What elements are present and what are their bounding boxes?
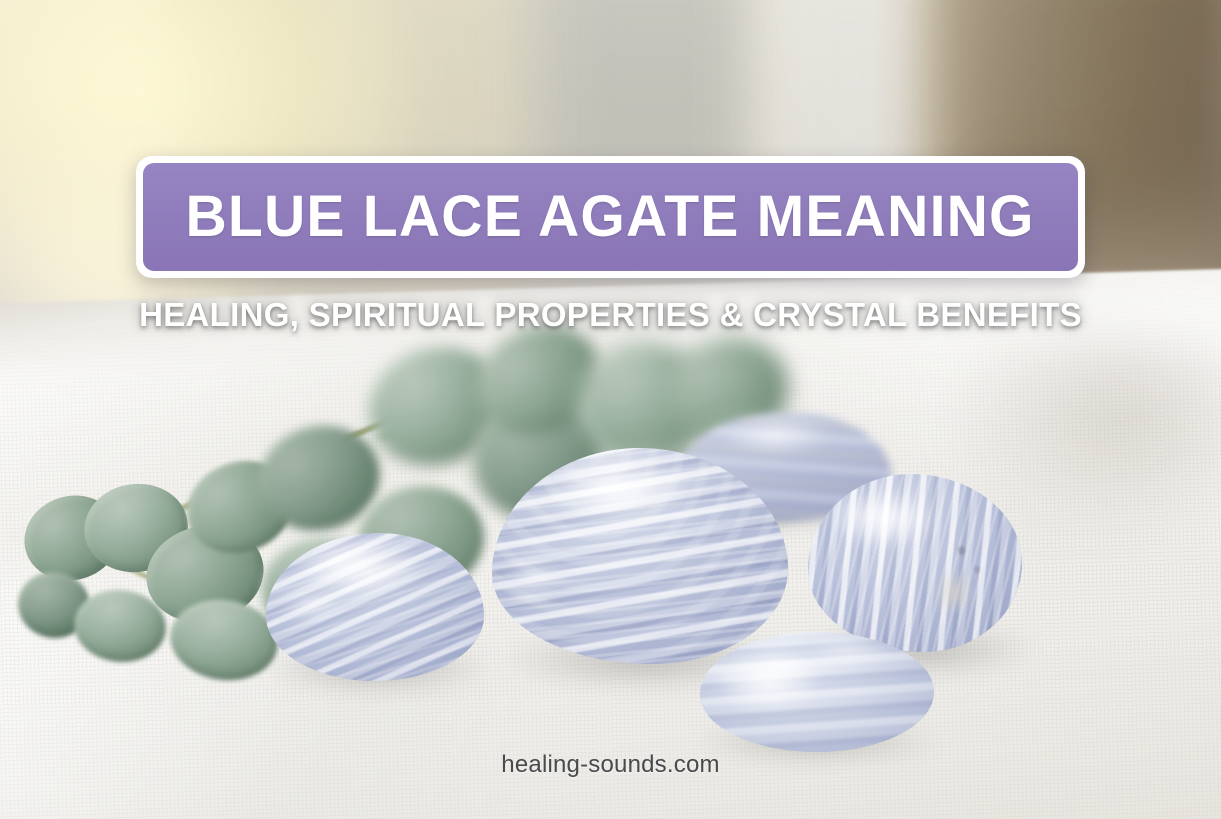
title-banner: BLUE LACE AGATE MEANING: [136, 156, 1085, 278]
front-stone-highlight: [716, 654, 820, 710]
center-stone-highlight-edge: [506, 540, 560, 616]
center-stone-highlight: [546, 458, 696, 520]
page-title: BLUE LACE AGATE MEANING: [186, 188, 1035, 246]
left-stone-highlight-secondary: [282, 587, 344, 621]
left-stone: [266, 533, 484, 681]
site-watermark: healing-sounds.com: [0, 751, 1221, 779]
background-photo: [0, 0, 1221, 819]
right-stone-highlight: [830, 490, 938, 546]
right-stone-pit: [958, 546, 965, 555]
right-stone-matrix: [932, 570, 976, 616]
right-stone-pit: [974, 566, 980, 573]
front-stone-highlight-top: [804, 638, 892, 664]
front-stone: [700, 632, 934, 752]
back-stone-highlight: [720, 421, 830, 451]
page-subtitle: HEALING, SPIRITUAL PROPERTIES & CRYSTAL …: [0, 296, 1221, 334]
right-stone: [808, 474, 1022, 652]
feature-image-canvas: BLUE LACE AGATE MEANING HEALING, SPIRITU…: [0, 0, 1221, 819]
title-banner-fill: BLUE LACE AGATE MEANING: [143, 163, 1078, 271]
